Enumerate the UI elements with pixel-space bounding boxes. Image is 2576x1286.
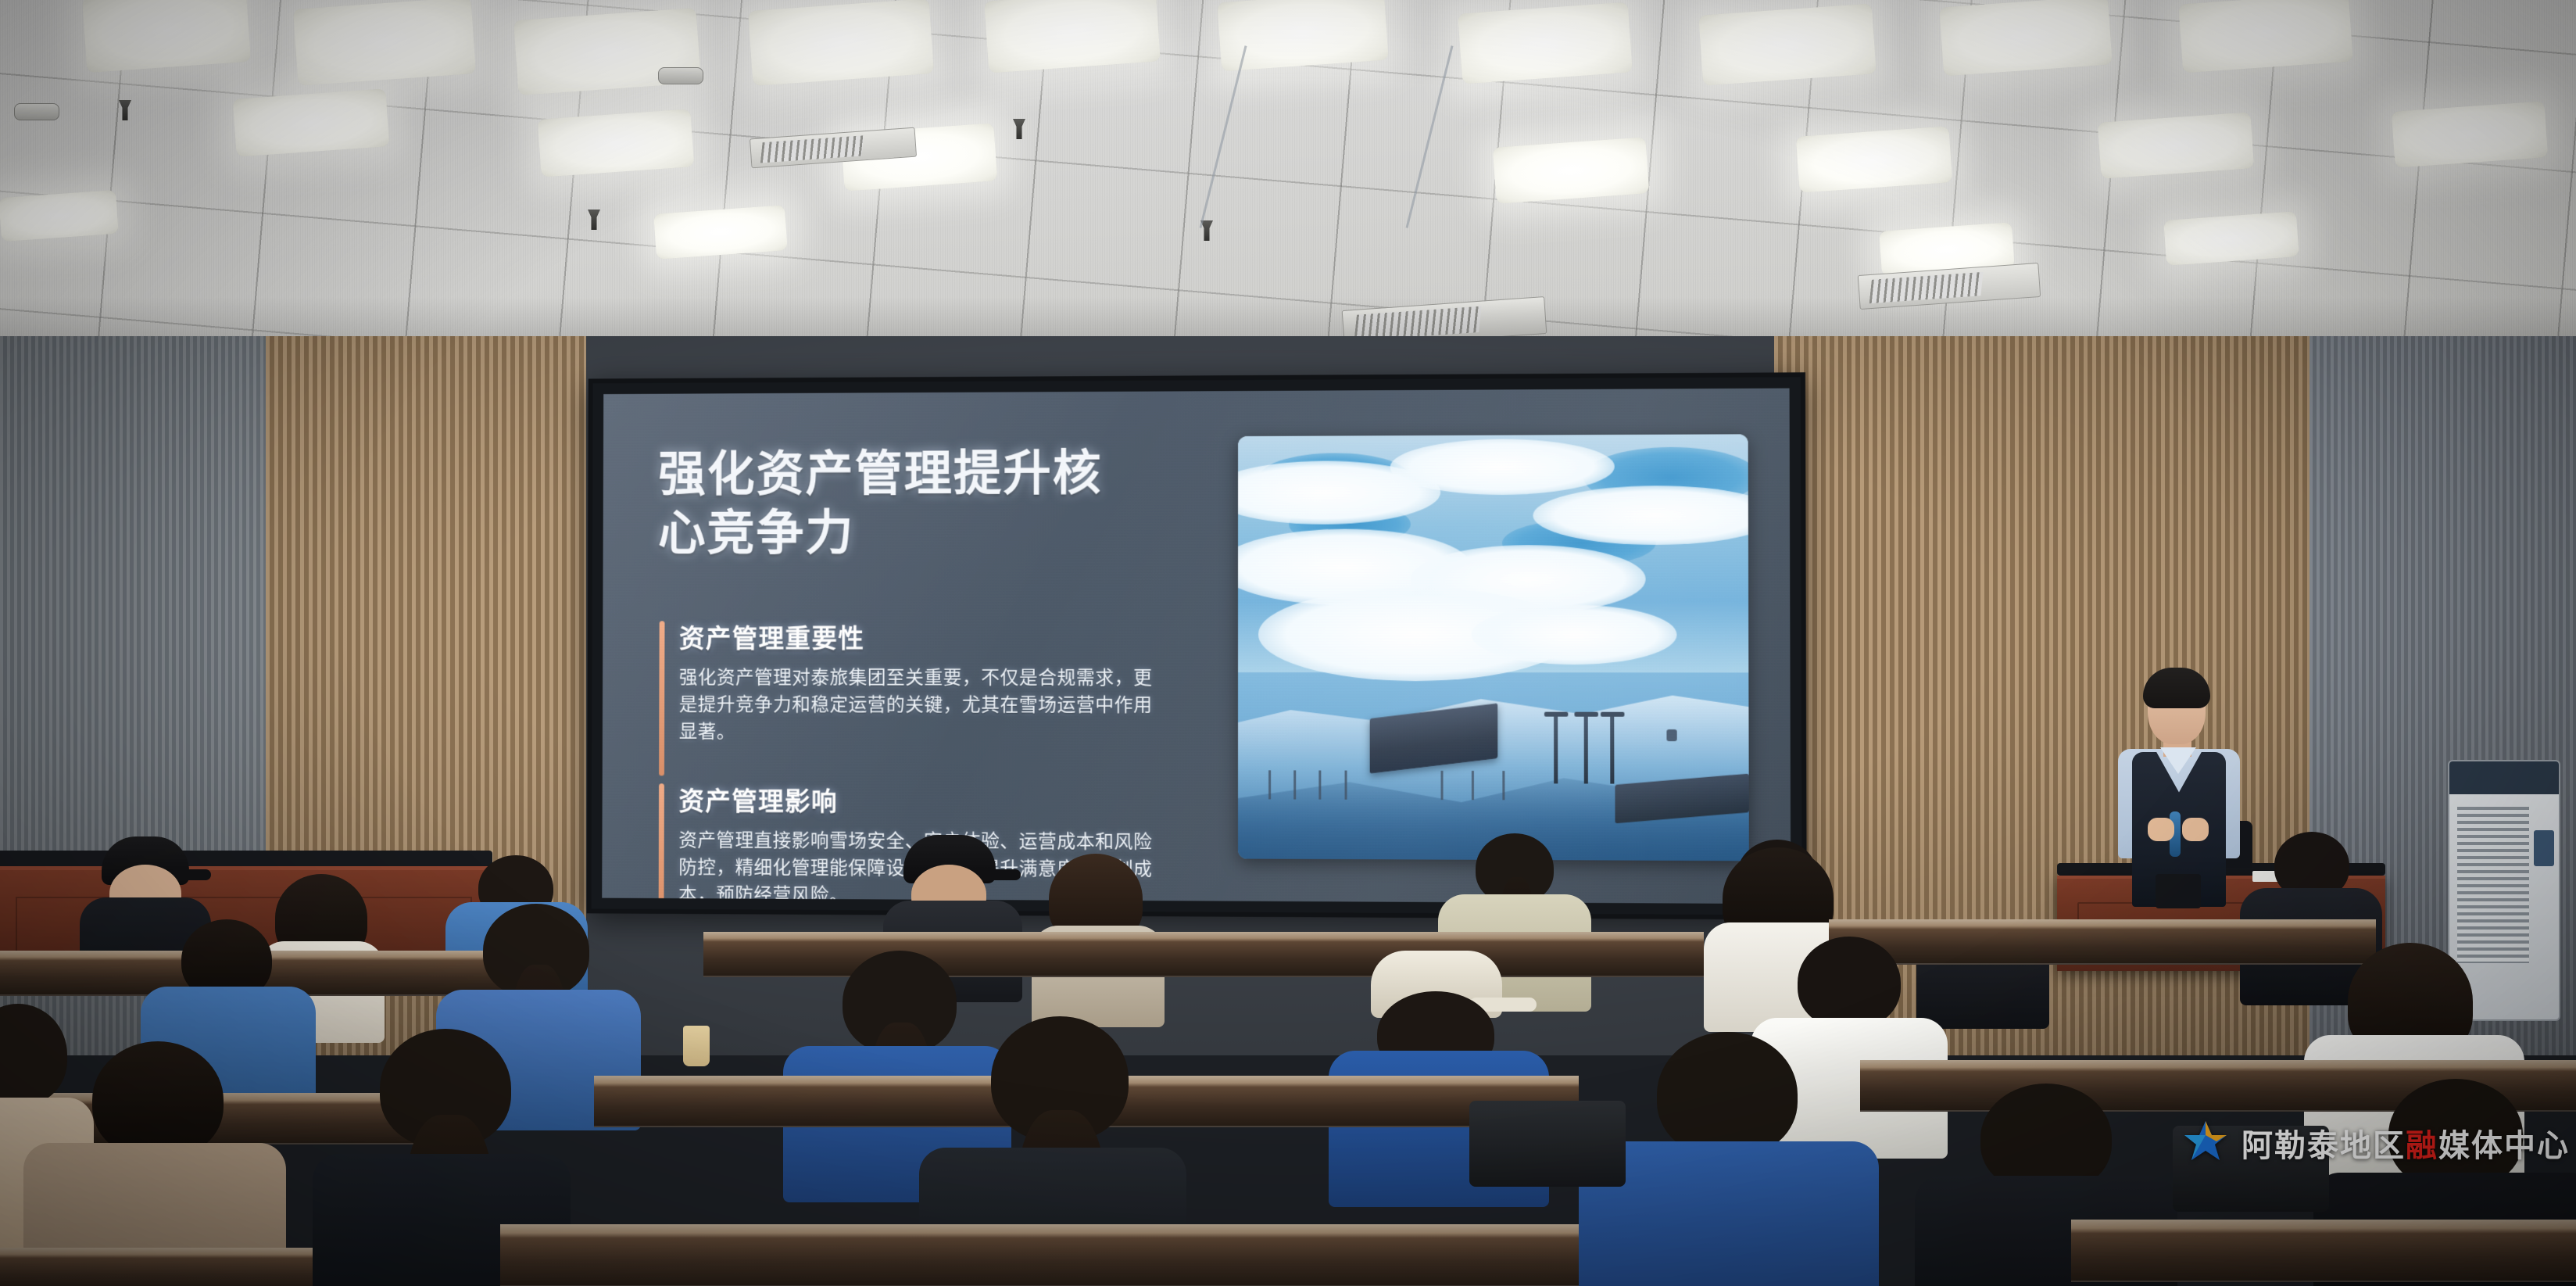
photo-cloud (1390, 439, 1614, 494)
ceiling-light-panel (653, 205, 788, 260)
bullet-heading: 资产管理重要性 (679, 618, 1154, 655)
accent-bar (659, 783, 664, 904)
ceiling-light-panel (1796, 126, 1953, 192)
ceiling-light-panel (2163, 211, 2299, 266)
photo-lift-tower (1584, 715, 1588, 783)
ceiling-light-panel (984, 0, 1161, 73)
photo-lift-tower (1554, 715, 1558, 783)
star-logo-icon (2181, 1118, 2231, 1168)
ceiling-light-panel (293, 0, 476, 86)
ceiling-light-panel (538, 109, 695, 177)
ceiling-light-panel (82, 0, 251, 73)
ceiling-light-panel (1939, 0, 2113, 76)
bullet-heading: 资产管理影响 (678, 780, 1154, 819)
suspended-ceiling (0, 0, 2576, 367)
presentation-slide: 强化资产管理提升核心竞争力 资产管理重要性 强化资产管理对泰旅集团至关重要，不仅… (602, 389, 1791, 904)
ac-top-cap (2449, 761, 2559, 794)
ceiling-light-panel (2392, 101, 2549, 167)
smoke-detector-icon (14, 103, 59, 120)
presenter-hand (2182, 818, 2209, 841)
paper-cup (683, 1026, 710, 1066)
watermark-text: 阿勒泰地区融媒体中心 (2241, 1120, 2570, 1166)
presenter-chair-base (2156, 874, 2201, 908)
photo-slope-pole (1293, 770, 1296, 800)
bullet-body: 强化资产管理对泰旅集团至关重要，不仅是合规需求，更是提升竞争力和稳定运营的关键，… (679, 664, 1154, 747)
accent-bar (659, 621, 664, 776)
photo-slope-pole (1441, 770, 1444, 800)
photo-gondola-cabin (1666, 729, 1676, 741)
person-head (1798, 937, 1901, 1029)
photo-slope-pole (1502, 771, 1504, 801)
conference-room-scene: 强化资产管理提升核心竞争力 资产管理重要性 强化资产管理对泰旅集团至关重要，不仅… (0, 0, 2576, 1286)
desk-row-foreground-left (0, 1248, 313, 1286)
presenter-hand (2148, 818, 2174, 841)
front-desk-left-rail (0, 851, 492, 866)
desk-row-foreground-right (2071, 1220, 2576, 1282)
photo-slope-pole (1268, 770, 1271, 800)
chair-back (1469, 1101, 1626, 1187)
presenter-person (2104, 664, 2252, 907)
ceiling-light-panel (233, 88, 390, 156)
photo-slope-pole (1344, 770, 1347, 800)
ceiling-light-panel (1458, 2, 1633, 84)
person-head (92, 1041, 224, 1159)
ceiling-light-panel (0, 190, 119, 242)
ceiling-light-panel (1493, 137, 1650, 203)
slide-photo-ski-resort (1238, 434, 1749, 861)
desk-row-foreground (500, 1224, 1579, 1286)
person-head (1657, 1032, 1798, 1157)
cap-brim (975, 869, 1021, 880)
ceiling-light-panel (748, 0, 934, 86)
ac-display-panel (2534, 830, 2554, 866)
photo-lift-tower (1610, 715, 1614, 783)
smoke-detector-icon (658, 67, 703, 84)
slide-bullet-1: 资产管理重要性 强化资产管理对泰旅集团至关重要，不仅是合规需求，更是提升竞争力和… (659, 618, 1154, 774)
watermark-accent-character: 融 (2406, 1129, 2438, 1163)
watermark-suffix: 媒体中心 (2438, 1129, 2570, 1163)
ceiling-light-panel (1698, 3, 1877, 85)
ac-grille-icon (2457, 807, 2529, 963)
projection-screen[interactable]: 强化资产管理提升核心竞争力 资产管理重要性 强化资产管理对泰旅集团至关重要，不仅… (587, 372, 1807, 919)
broadcaster-watermark: 阿勒泰地区融媒体中心 (2181, 1118, 2570, 1168)
ceiling-light-panel (2098, 112, 2255, 178)
photo-slope-pole (1472, 771, 1474, 801)
presenter-hair (2143, 668, 2210, 708)
photo-cloud (1472, 605, 1676, 664)
watermark-prefix: 阿勒泰地区 (2241, 1129, 2406, 1163)
photo-slope-pole (1319, 770, 1322, 800)
slide-title: 强化资产管理提升核心竞争力 (658, 445, 1129, 564)
ceiling-light-panel (2178, 0, 2353, 73)
